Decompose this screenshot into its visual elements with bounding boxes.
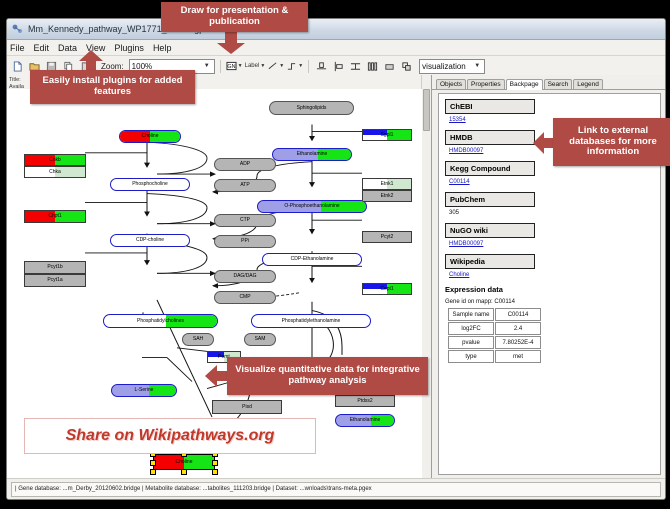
node-atp[interactable]: ATP <box>214 179 276 192</box>
node-ppi[interactable]: PPi <box>214 235 276 248</box>
gene-label: Sgpl1 <box>381 133 394 138</box>
scrollbar-thumb[interactable] <box>423 89 430 131</box>
node-ethanolamine[interactable]: Ethanolamine <box>272 148 352 161</box>
gene-etnk1[interactable]: Etnk1 <box>362 178 412 190</box>
node-choline-top[interactable]: Choline <box>119 130 181 143</box>
callout-visualize: Visualize quantitative data for integrat… <box>227 357 428 395</box>
db-header-pubchem: PubChem <box>445 192 535 207</box>
chevron-down-icon[interactable]: ▼ <box>260 63 265 69</box>
db-value-pubchem: 305 <box>449 210 654 216</box>
gene-label: Chkb <box>49 158 61 163</box>
gene-chkb[interactable]: Chkb <box>24 154 86 166</box>
node-ctp[interactable]: CTP <box>214 214 276 227</box>
callout-plugins: Easily install plugins for added feature… <box>30 70 195 104</box>
row-value: met <box>495 350 541 363</box>
db-link-wikipedia[interactable]: Choline <box>449 272 654 278</box>
node-label: Phosphatidylcholines <box>137 319 184 324</box>
visualization-combo[interactable]: visualization ▼ <box>419 59 485 74</box>
node-dag[interactable]: DAG/DAG <box>214 270 276 283</box>
meta-title-label: Title: <box>9 77 26 84</box>
title-bar: Mm_Kennedy_pathway_WP1771_45176.gpml <box>7 19 665 40</box>
align-left-icon[interactable] <box>331 59 346 74</box>
side-panel-tabs[interactable]: Objects Properties Backpage Search Legen… <box>432 75 665 90</box>
status-bar-text: | Gene database: ...m_Derby_20120602.bri… <box>11 482 661 497</box>
node-label: Ethanolamine <box>350 418 381 423</box>
line-dropdown[interactable]: ▼ <box>267 61 284 71</box>
node-label: SAM <box>255 337 266 342</box>
expression-data-table: Sample name C00114 log2FC 2.4 pvalue 7.8… <box>447 307 542 364</box>
share-banner: Share on Wikipathways.org <box>24 418 316 454</box>
chevron-down-icon[interactable]: ▼ <box>298 63 303 69</box>
visualization-value: visualization <box>422 62 472 71</box>
gene-label: Chpt1 <box>48 214 61 219</box>
label-dropdown[interactable]: Label ▼ <box>245 63 266 69</box>
align-top-icon[interactable] <box>314 59 329 74</box>
gene-label: Pisd <box>242 405 252 410</box>
node-phosphatidylethanolamine[interactable]: Phosphatidylethanolamine <box>251 314 371 328</box>
node-cmp[interactable]: CMP <box>214 291 276 304</box>
toolbar-separator <box>220 60 221 73</box>
node-label: DAG/DAG <box>233 274 256 279</box>
node-cdp-choline[interactable]: CDP-choline <box>110 234 190 247</box>
menu-edit[interactable]: Edit <box>34 43 50 53</box>
node-adp[interactable]: ADP <box>214 158 276 171</box>
db-header-hmdb: HMDB <box>445 130 535 145</box>
toolbar-separator <box>308 60 309 73</box>
canvas-vertical-scrollbar[interactable] <box>421 75 431 479</box>
callout-text: Easily install plugins for added feature… <box>35 76 190 98</box>
gene-chka[interactable]: Chka <box>24 166 86 178</box>
selection-handle[interactable] <box>181 469 187 475</box>
tab-objects[interactable]: Objects <box>436 79 466 89</box>
node-label: Sphingolipids <box>297 106 327 111</box>
db-header-kegg: Kegg Compound <box>445 161 535 176</box>
row-key: type <box>448 350 494 363</box>
chevron-down-icon[interactable]: ▼ <box>238 63 243 69</box>
gene-label: Chka <box>49 170 61 175</box>
node-label: CTP <box>240 218 250 223</box>
node-label: CDP-choline <box>136 238 164 243</box>
chevron-down-icon[interactable]: ▼ <box>472 63 482 69</box>
menu-file[interactable]: File <box>10 43 25 53</box>
gene-pcyt1a[interactable]: Pcyt1a <box>24 274 86 287</box>
status-bar: | Gene database: ...m_Derby_20120602.bri… <box>7 478 665 499</box>
svg-text:GN: GN <box>227 64 235 70</box>
gene-id-line: Gene id on mapp: C00114 <box>445 299 654 305</box>
node-o-phosphoethanolamine[interactable]: O-Phosphoethanolamine <box>257 200 367 213</box>
callout-links: Link to external databases for more info… <box>553 118 670 166</box>
row-key: pvalue <box>448 336 494 349</box>
menu-help[interactable]: Help <box>153 43 172 53</box>
gene-label: Ptdss2 <box>357 399 372 404</box>
callout-visualize-arrow-icon <box>205 364 229 388</box>
node-ethanolamine-2[interactable]: Ethanolamine <box>335 414 395 427</box>
table-row: log2FC 2.4 <box>448 322 541 335</box>
db-link-kegg[interactable]: C00114 <box>449 179 654 185</box>
node-label: PPi <box>241 239 249 244</box>
node-label: Choline <box>142 134 159 139</box>
table-row: pvalue 7.80252E-4 <box>448 336 541 349</box>
selection-handle[interactable] <box>212 469 218 475</box>
callout-text: Visualize quantitative data for integrat… <box>235 365 420 387</box>
node-label: SAH <box>193 337 203 342</box>
callout-draw-arrow-icon <box>216 31 246 55</box>
gene-chpt1[interactable]: Chpt1 <box>24 210 86 223</box>
db-header-wikipedia: Wikipedia <box>445 254 535 269</box>
node-cdp-ethanolamine[interactable]: CDP-Ethanolamine <box>262 253 362 266</box>
selection-handle[interactable] <box>150 460 156 466</box>
db-header-nugo: NuGO wiki <box>445 223 535 238</box>
menu-data[interactable]: Data <box>58 43 77 53</box>
node-label: Choline <box>176 460 193 465</box>
node-label: CDP-Ethanolamine <box>291 257 334 262</box>
row-value: 7.80252E-4 <box>495 336 541 349</box>
gene-ptdss2[interactable]: Ptdss2 <box>335 395 395 407</box>
stack-icon[interactable] <box>348 59 363 74</box>
connector-dropdown[interactable]: ▼ <box>286 61 303 71</box>
node-label: CMP <box>239 295 250 300</box>
db-header-chebi: ChEBI <box>445 99 535 114</box>
callout-plugins-arrow-icon <box>78 50 104 72</box>
chevron-down-icon[interactable]: ▼ <box>279 63 284 69</box>
gene-label: Cept1 <box>380 287 393 292</box>
table-row: Sample name C00114 <box>448 308 541 321</box>
new-file-icon[interactable] <box>10 59 25 74</box>
gene-etnk2[interactable]: Etnk2 <box>362 190 412 202</box>
gene-label: Etnk2 <box>381 194 394 199</box>
gene-label: Pcyt1a <box>47 278 62 283</box>
node-sphingolipids[interactable]: Sphingolipids <box>269 101 354 115</box>
gene-label: Pcyt2 <box>381 235 394 240</box>
node-label: Phosphatidylethanolamine <box>282 319 341 324</box>
callout-links-arrow-icon <box>533 131 555 155</box>
expression-data-heading: Expression data <box>445 285 654 294</box>
table-row: type met <box>448 350 541 363</box>
node-label: ATP <box>240 183 249 188</box>
share-banner-text: Share on Wikipathways.org <box>66 427 275 445</box>
gene-sgpl1[interactable]: Sgpl1 <box>362 129 412 141</box>
tab-search[interactable]: Search <box>544 79 573 89</box>
gene-pcyt1b[interactable]: Pcyt1b <box>24 261 86 274</box>
db-link-nugo[interactable]: HMDB00097 <box>449 241 654 247</box>
tab-backpage[interactable]: Backpage <box>506 79 543 90</box>
node-l-serine-left[interactable]: L-Serine <box>111 384 177 397</box>
callout-draw: Draw for presentation & publication <box>161 2 308 32</box>
tab-properties[interactable]: Properties <box>467 79 505 89</box>
chevron-down-icon[interactable]: ▼ <box>202 63 212 69</box>
row-value: C00114 <box>495 308 541 321</box>
row-key: log2FC <box>448 322 494 335</box>
node-label: Ethanolamine <box>297 152 328 157</box>
row-key: Sample name <box>448 308 494 321</box>
selection-handle[interactable] <box>150 469 156 475</box>
group-icon[interactable] <box>382 59 397 74</box>
screenshot-root: Mm_Kennedy_pathway_WP1771_45176.gpml Fil… <box>0 0 670 509</box>
node-label: O-Phosphoethanolamine <box>284 204 339 209</box>
node-phosphocholine[interactable]: Phosphocholine <box>110 178 190 191</box>
node-sam[interactable]: SAM <box>244 333 276 346</box>
gene-label: Pcyt1b <box>47 265 62 270</box>
node-label: Phosphocholine <box>132 182 168 187</box>
node-label: ADP <box>240 162 250 167</box>
gene-label: Etnk1 <box>381 182 394 187</box>
menu-bar[interactable]: File Edit Data View Plugins Help <box>7 40 665 56</box>
gene-cept1[interactable]: Cept1 <box>362 283 412 295</box>
callout-text: Link to external databases for more info… <box>557 126 669 159</box>
tab-legend[interactable]: Legend <box>573 79 603 89</box>
menu-plugins[interactable]: Plugins <box>114 43 144 53</box>
node-sah[interactable]: SAH <box>182 333 214 346</box>
label-dropdown-text: Label <box>245 63 260 69</box>
datanode-dropdown[interactable]: GN ▼ <box>226 61 243 71</box>
row-value: 2.4 <box>495 322 541 335</box>
node-phosphatidylcholines[interactable]: Phosphatidylcholines <box>103 314 218 328</box>
gene-pisd[interactable]: Pisd <box>212 400 282 414</box>
order-icon[interactable] <box>399 59 414 74</box>
selection-handle[interactable] <box>212 460 218 466</box>
callout-text: Draw for presentation & publication <box>165 6 304 28</box>
gene-pcyt2[interactable]: Pcyt2 <box>362 231 412 243</box>
pathvisio-app-icon <box>11 23 23 35</box>
node-label: L-Serine <box>135 388 154 393</box>
distribute-icon[interactable] <box>365 59 380 74</box>
